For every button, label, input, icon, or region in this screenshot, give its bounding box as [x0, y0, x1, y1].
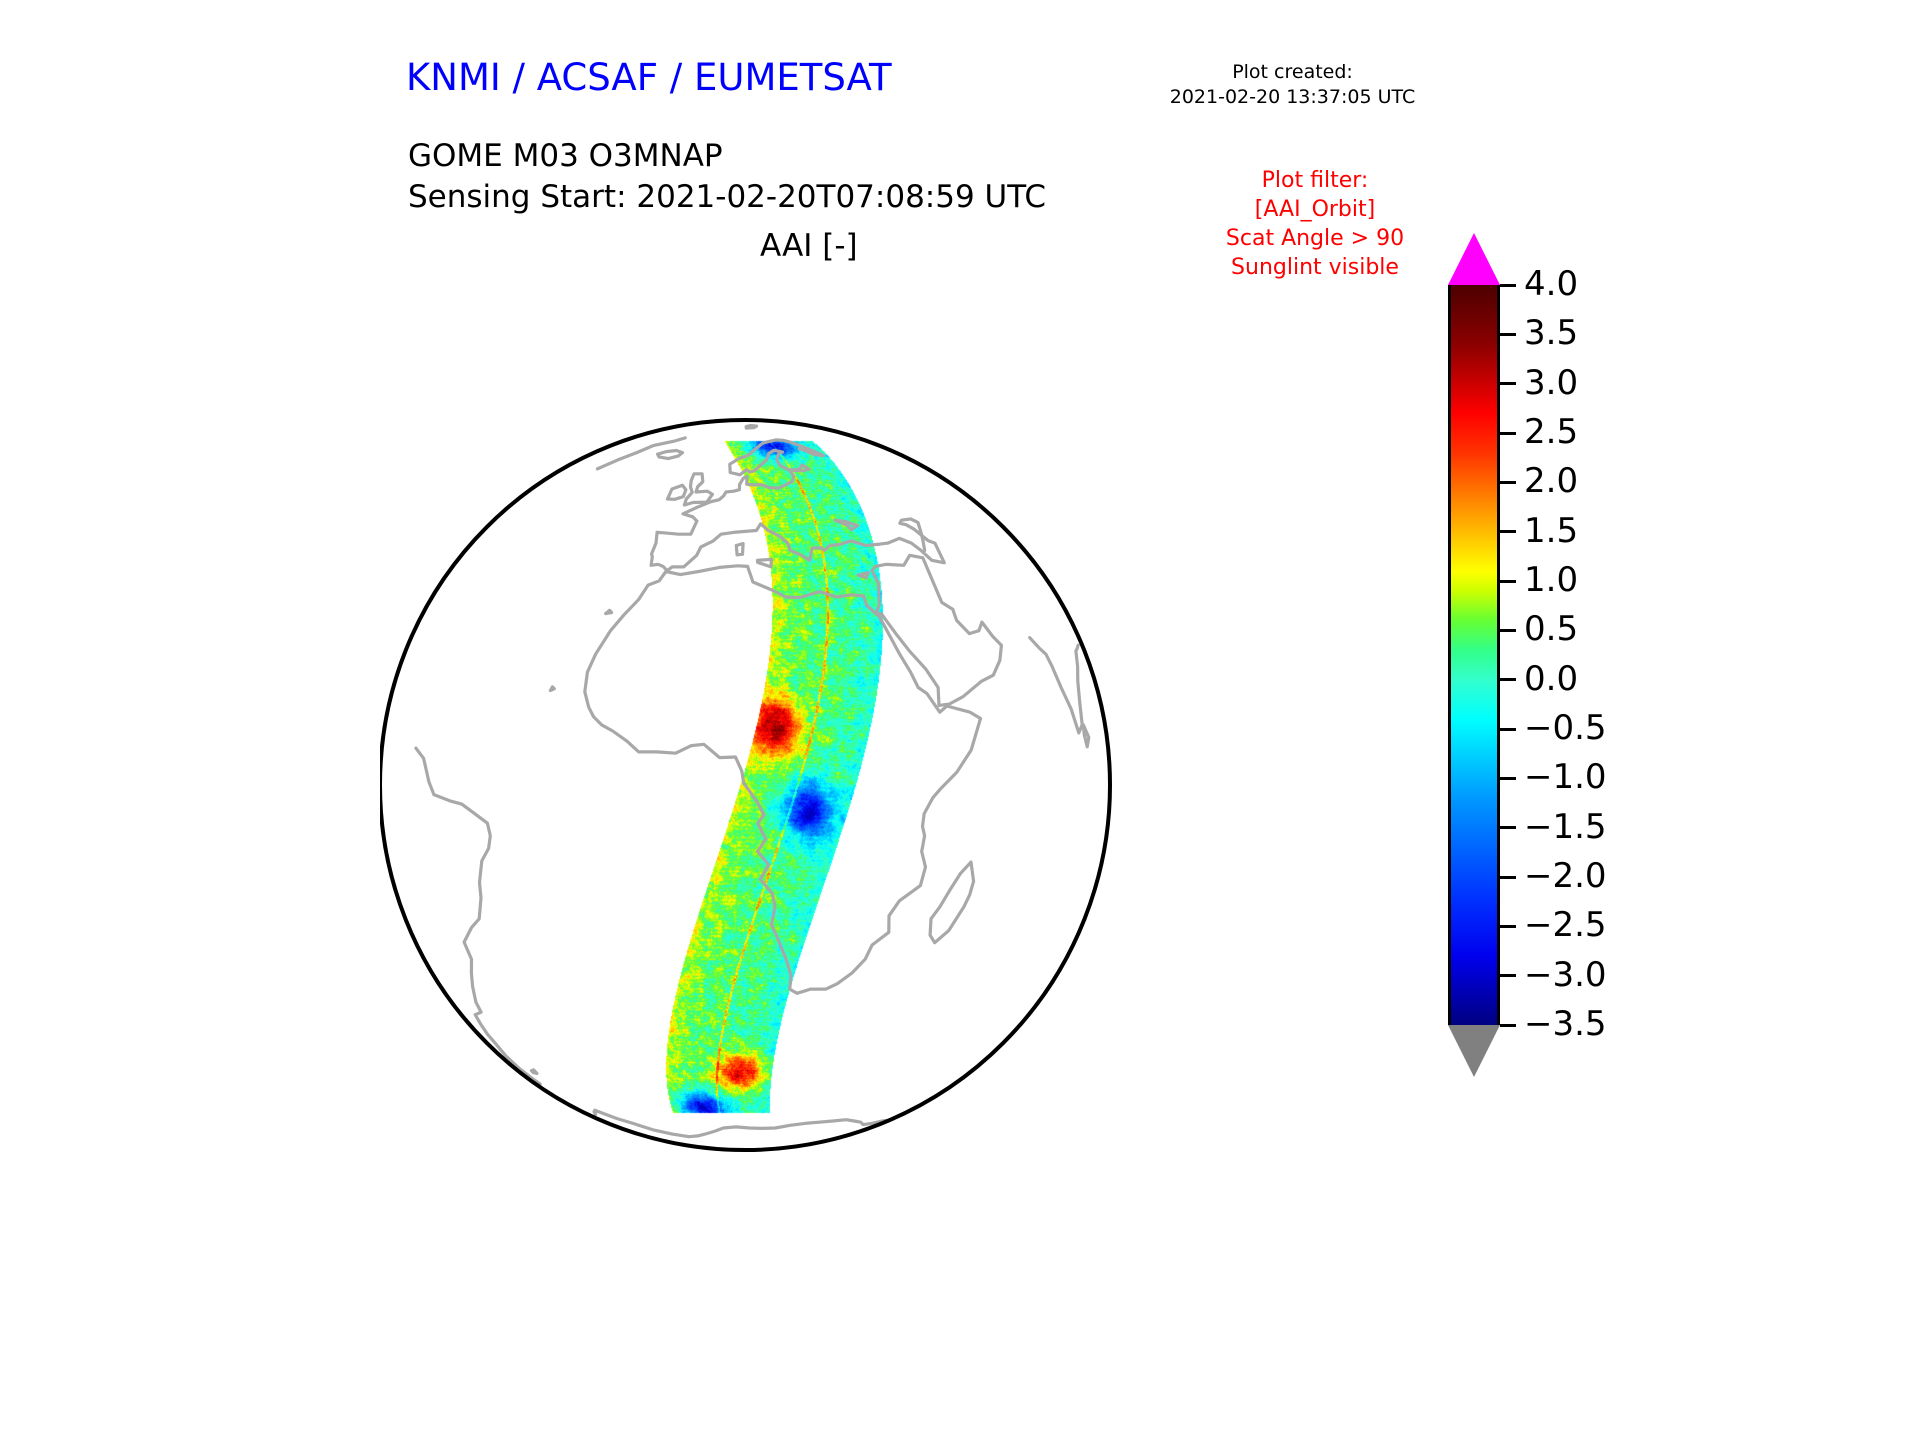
- colorbar-tick-label-2: 3.0: [1524, 366, 1578, 400]
- map-globe: [380, 270, 1400, 1300]
- plot-canvas: KNMI / ACSAF / EUMETSAT Plot created: 20…: [0, 0, 1920, 1440]
- variable-title: AAI [-]: [760, 228, 858, 264]
- plot-filter-line-1: [AAI_Orbit]: [1195, 195, 1435, 224]
- colorbar-tick-label-10: −1.0: [1524, 760, 1607, 794]
- colorbar-tick-3: [1500, 432, 1516, 435]
- colorbar-tick-2: [1500, 382, 1516, 385]
- colorbar-under-arrow-icon: [1448, 1025, 1500, 1077]
- colorbar-tick-label-8: 0.0: [1524, 662, 1578, 696]
- coastline-path-8: [532, 1070, 537, 1074]
- brand-header: KNMI / ACSAF / EUMETSAT: [406, 56, 892, 99]
- colorbar-tick-8: [1500, 678, 1516, 681]
- colorbar-tick-label-15: −3.5: [1524, 1007, 1607, 1041]
- colorbar-tick-11: [1500, 826, 1516, 829]
- colorbar-tick-label-0: 4.0: [1524, 267, 1578, 301]
- colorbar-tick-label-11: −1.5: [1524, 810, 1607, 844]
- instrument-title: GOME M03 O3MNAP: [408, 136, 1046, 177]
- plot-filter-block: Plot filter: [AAI_Orbit] Scat Angle > 90…: [1195, 166, 1435, 282]
- colorbar-tick-1: [1500, 333, 1516, 336]
- colorbar-tick-label-4: 2.0: [1524, 464, 1578, 498]
- colorbar-tick-15: [1500, 1024, 1516, 1027]
- colorbar-tick-label-7: 0.5: [1524, 612, 1578, 646]
- colorbar-gradient: [1448, 285, 1500, 1025]
- aai-swath-raster: [380, 270, 1400, 1300]
- plot-filter-line-2: Scat Angle > 90: [1195, 224, 1435, 253]
- coastline-path-16: [550, 687, 554, 691]
- colorbar-tick-label-14: −3.0: [1524, 958, 1607, 992]
- colorbar-tick-label-12: −2.0: [1524, 859, 1607, 893]
- colorbar-tick-10: [1500, 777, 1516, 780]
- coastline-path-15: [606, 610, 612, 613]
- colorbar-over-arrow-icon: [1448, 233, 1500, 285]
- plot-filter-line-0: Plot filter:: [1195, 166, 1435, 195]
- colorbar-tick-4: [1500, 481, 1516, 484]
- plot-created-block: Plot created: 2021-02-20 13:37:05 UTC: [1160, 60, 1425, 110]
- colorbar-tick-label-5: 1.5: [1524, 514, 1578, 548]
- colorbar-tick-label-9: −0.5: [1524, 711, 1607, 745]
- colorbar-tick-label-1: 3.5: [1524, 316, 1578, 350]
- colorbar-tick-label-6: 1.0: [1524, 563, 1578, 597]
- plot-created-label: Plot created:: [1160, 60, 1425, 85]
- colorbar-tick-5: [1500, 530, 1516, 533]
- colorbar-tick-14: [1500, 974, 1516, 977]
- colorbar-tick-label-13: −2.5: [1524, 908, 1607, 942]
- colorbar-tick-label-3: 2.5: [1524, 415, 1578, 449]
- plot-title-block: GOME M03 O3MNAP Sensing Start: 2021-02-2…: [408, 136, 1046, 218]
- colorbar-tick-7: [1500, 629, 1516, 632]
- colorbar-tick-9: [1500, 728, 1516, 731]
- colorbar-tick-0: [1500, 284, 1516, 287]
- colorbar-tick-12: [1500, 876, 1516, 879]
- coastline-path-19: [858, 573, 868, 578]
- sensing-start-title: Sensing Start: 2021-02-20T07:08:59 UTC: [408, 177, 1046, 218]
- plot-created-value: 2021-02-20 13:37:05 UTC: [1160, 85, 1425, 110]
- colorbar-tick-13: [1500, 925, 1516, 928]
- coastline-path-14: [746, 426, 756, 429]
- globe-svg: [380, 270, 1400, 1300]
- colorbar: 4.03.53.02.52.01.51.00.50.0−0.5−1.0−1.5−…: [1448, 285, 1500, 1025]
- colorbar-tick-6: [1500, 580, 1516, 583]
